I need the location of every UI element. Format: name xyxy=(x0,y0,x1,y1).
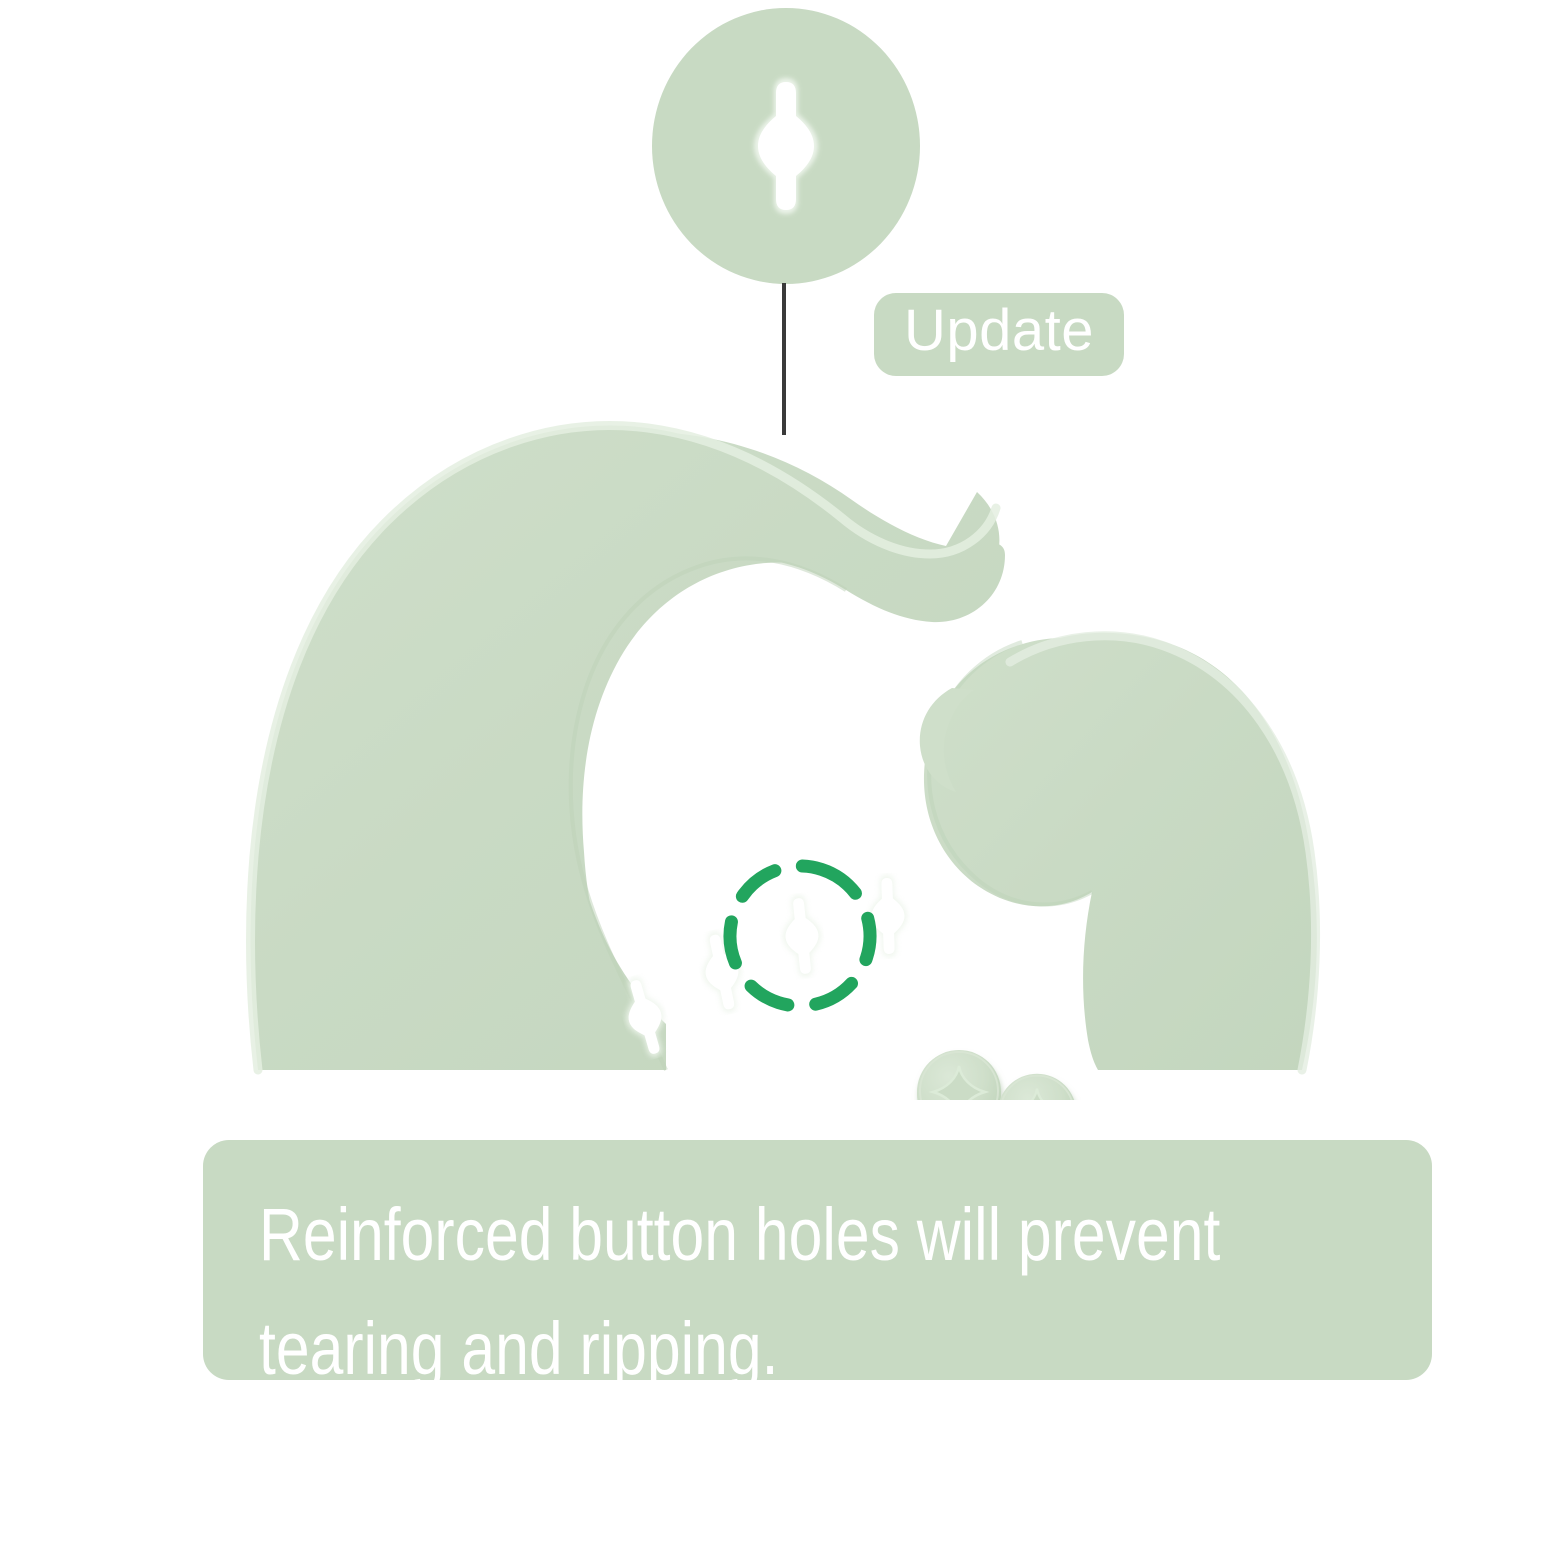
button-hole-2 xyxy=(695,928,749,1016)
caption-box: Reinforced button holes will prevent tea… xyxy=(203,1140,1432,1380)
caption-line-1: Reinforced button holes will prevent xyxy=(259,1178,1175,1292)
bib-illustration xyxy=(0,400,1560,1100)
caption-line-2: tearing and ripping. xyxy=(259,1292,1175,1406)
update-badge: Update xyxy=(874,293,1124,376)
magnified-button-hole-icon xyxy=(748,74,824,218)
infographic-canvas: Update xyxy=(0,0,1560,1561)
snap-button-2 xyxy=(998,1074,1077,1100)
magnified-detail-circle xyxy=(652,8,920,284)
bib-right-arm xyxy=(924,633,1317,1070)
snap-button-1 xyxy=(917,1050,1001,1100)
button-hole-3 xyxy=(779,893,825,979)
